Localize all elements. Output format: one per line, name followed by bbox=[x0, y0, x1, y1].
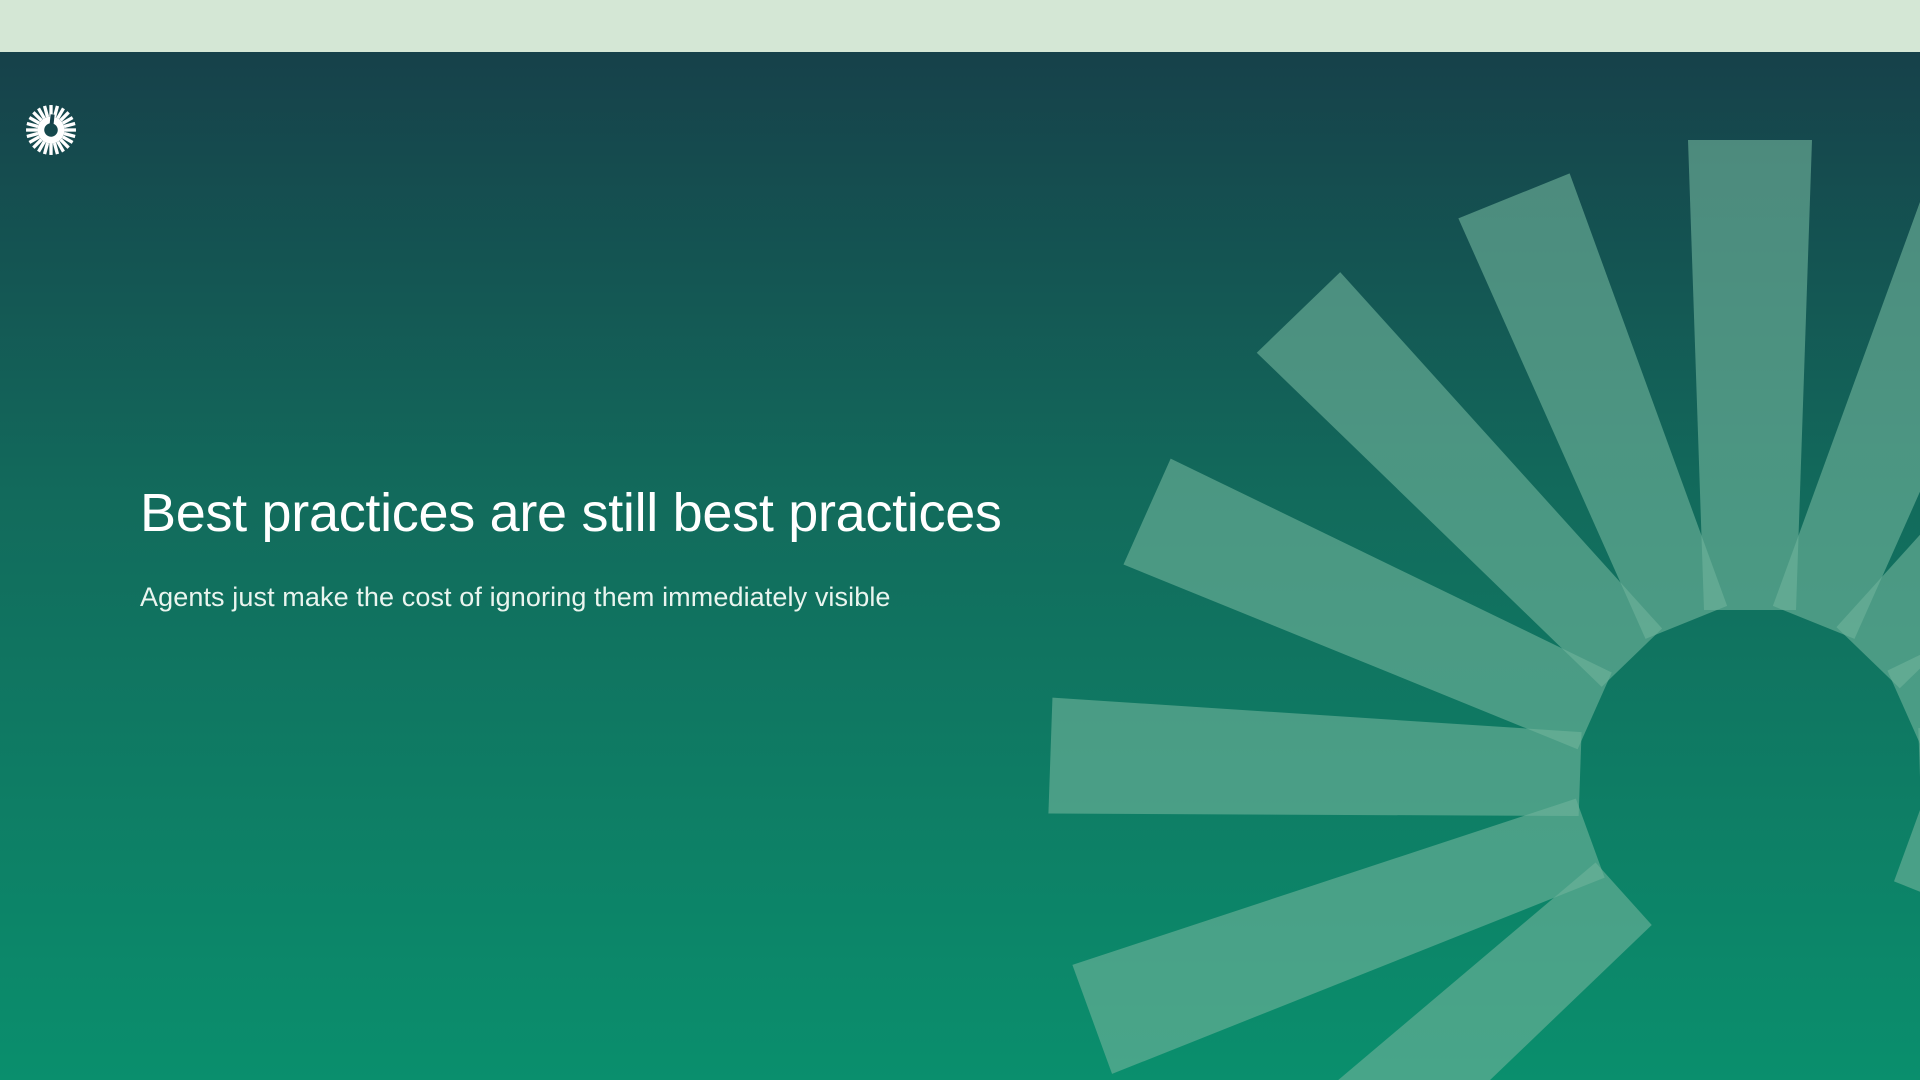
slide-title: Best practices are still best practices bbox=[140, 482, 1140, 544]
presentation-slide: Best practices are still best practices … bbox=[0, 52, 1920, 1080]
anthropic-radial-burst-icon bbox=[25, 104, 77, 156]
slide-subtitle: Agents just make the cost of ignoring th… bbox=[140, 580, 1140, 615]
slide-canvas: Best practices are still best practices … bbox=[0, 0, 1920, 1080]
top-margin-strip bbox=[0, 0, 1920, 52]
slide-text-block: Best practices are still best practices … bbox=[140, 482, 1140, 615]
